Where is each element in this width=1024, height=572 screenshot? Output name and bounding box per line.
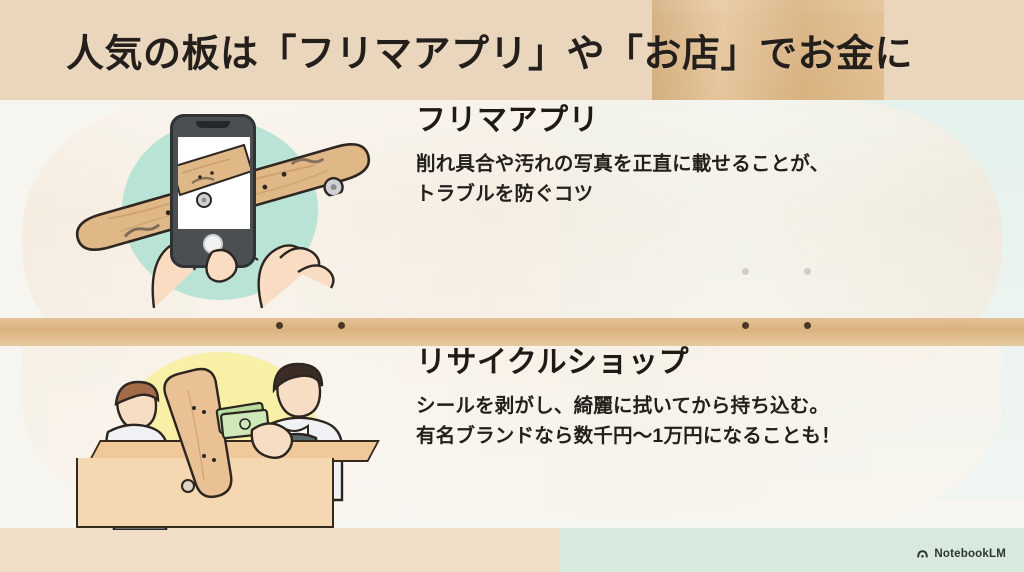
- viewfinder-skateboard-preview: [178, 137, 250, 229]
- deck-mounting-hole: [804, 322, 811, 329]
- watermark-label: NotebookLM: [934, 548, 1006, 560]
- illustration-shop-counter-transaction: [52, 346, 388, 528]
- section-1-body: 削れ具合や汚れの写真を正直に載せることが、 トラブルを防ぐコツ: [416, 149, 1006, 209]
- smartphone-illustration: [170, 114, 256, 268]
- slide-root: 人気の板は「フリマアプリ」や「お店」でお金に: [0, 0, 1024, 572]
- page-title: 人気の板は「フリマアプリ」や「お店」でお金に: [66, 23, 913, 78]
- background-bottom-tan-strip: [0, 528, 566, 572]
- deck-mounting-hole: [276, 322, 283, 329]
- illustration-phone-photographing-skateboard: [52, 104, 388, 318]
- section-1-title: フリマアプリ: [416, 104, 1006, 137]
- clerk-hand: [248, 416, 308, 466]
- section-2-text-column: リサイクルショップ シールを剥がし、綺麗に拭いてから持ち込む。 有名ブランドなら…: [416, 346, 1006, 451]
- section-recycle-shop: リサイクルショップ シールを剥がし、綺麗に拭いてから持ち込む。 有名ブランドなら…: [0, 346, 1024, 528]
- section-flea-market-app: フリマアプリ 削れ具合や汚れの写真を正直に載せることが、 トラブルを防ぐコツ: [0, 104, 1024, 318]
- notebooklm-logo-icon: [916, 547, 929, 560]
- phone-notch: [196, 121, 230, 128]
- deck-mounting-hole: [742, 322, 749, 329]
- section-2-body-line-2: 有名ブランドなら数千円〜1万円になることも！: [416, 421, 1006, 451]
- slide-header: 人気の板は「フリマアプリ」や「お店」でお金に: [0, 0, 1024, 100]
- pointing-finger: [204, 246, 274, 316]
- section-1-body-line-2: トラブルを防ぐコツ: [416, 179, 1006, 209]
- section-2-title: リサイクルショップ: [416, 346, 1006, 379]
- section-1-text-column: フリマアプリ 削れ具合や汚れの写真を正直に載せることが、 トラブルを防ぐコツ: [416, 104, 1006, 209]
- watermark: NotebookLM: [916, 547, 1006, 560]
- section-2-body-line-1: シールを剥がし、綺麗に拭いてから持ち込む。: [416, 391, 1006, 421]
- deck-mounting-hole: [338, 322, 345, 329]
- section-1-body-line-1: 削れ具合や汚れの写真を正直に載せることが、: [416, 149, 1006, 179]
- decorative-deck-wood-band: [0, 318, 1024, 346]
- phone-camera-viewfinder: [178, 137, 250, 229]
- section-2-body: シールを剥がし、綺麗に拭いてから持ち込む。 有名ブランドなら数千円〜1万円になる…: [416, 391, 1006, 451]
